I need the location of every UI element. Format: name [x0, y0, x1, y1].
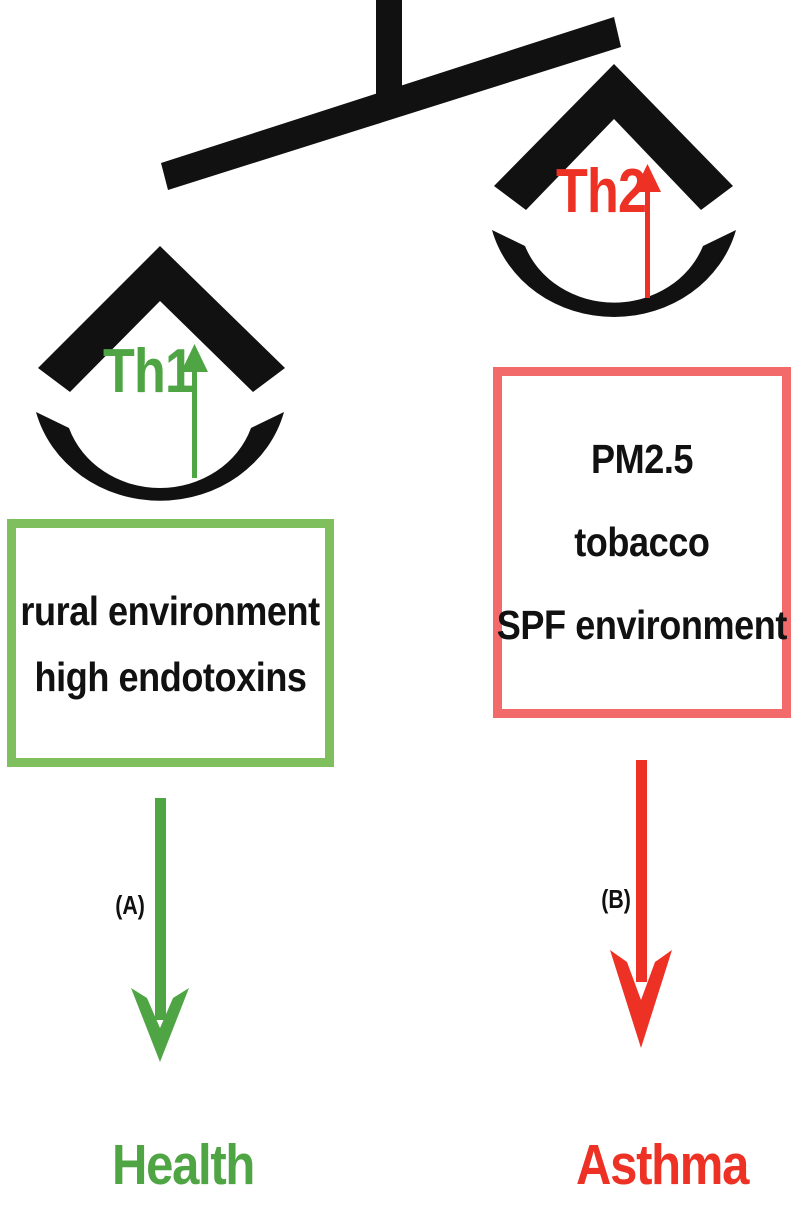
branch-letter-b: (B)	[601, 884, 631, 915]
risk-factor-line-3: SPF environment	[497, 605, 787, 646]
green-down-arrow	[131, 798, 189, 1062]
risk-factor-line-2: tobacco	[574, 522, 709, 563]
th1-pan-label: Th1	[103, 336, 193, 407]
th2-pan-label: Th2	[556, 156, 646, 227]
asthma-outcome-label: Asthma	[576, 1132, 748, 1198]
branch-letter-a: (A)	[115, 890, 145, 921]
health-outcome-label: Health	[112, 1132, 254, 1198]
right-pan-bowl	[492, 230, 736, 317]
risk-factors-box: PM2.5 tobacco SPF environment	[493, 367, 791, 718]
figure-root: Th1 Th2 rural environment high endotoxin…	[0, 0, 800, 1210]
protective-factors-box: rural environment high endotoxins	[7, 519, 334, 767]
protective-factor-line-2: high endotoxins	[34, 645, 306, 711]
protective-factor-line-1: rural environment	[21, 579, 320, 645]
risk-factor-line-1: PM2.5	[591, 439, 693, 480]
left-pan-bowl	[36, 412, 284, 501]
